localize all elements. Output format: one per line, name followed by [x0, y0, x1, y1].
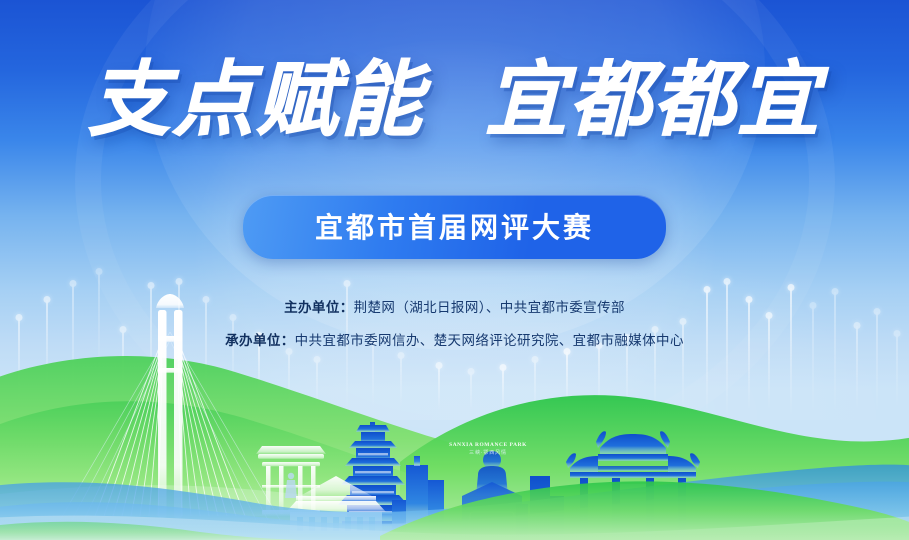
poster-title: 支点赋能 宜都都宜 [88, 58, 821, 145]
subtitle-pill: 宜都市首届网评大赛 [243, 195, 666, 259]
subtitle-block: 宜都市首届网评大赛 [0, 195, 909, 259]
organizer-value: 荆楚网（湖北日报网）、中共宜都市委宣传部 [354, 300, 625, 316]
title-block: 支点赋能 宜都都宜 [0, 58, 909, 145]
organizer-label: 承办单位： [225, 333, 295, 349]
organizer-value: 中共宜都市委网信办、楚天网络评论研究院、宜都市融媒体中心 [295, 333, 684, 349]
organizer-label: 主办单位： [284, 300, 354, 316]
organizer-block: 主办单位：荆楚网（湖北日报网）、中共宜都市委宣传部 承办单位：中共宜都市委网信办… [0, 296, 909, 362]
organizer-row: 承办单位：中共宜都市委网信办、楚天网络评论研究院、宜都市融媒体中心 [0, 329, 909, 349]
poster-canvas: 支点赋能 宜都都宜 宜都市首届网评大赛 主办单位：荆楚网（湖北日报网）、中共宜都… [0, 0, 909, 540]
subtitle-text: 宜都市首届网评大赛 [315, 211, 594, 244]
organizer-row: 主办单位：荆楚网（湖北日报网）、中共宜都市委宣传部 [0, 296, 909, 316]
